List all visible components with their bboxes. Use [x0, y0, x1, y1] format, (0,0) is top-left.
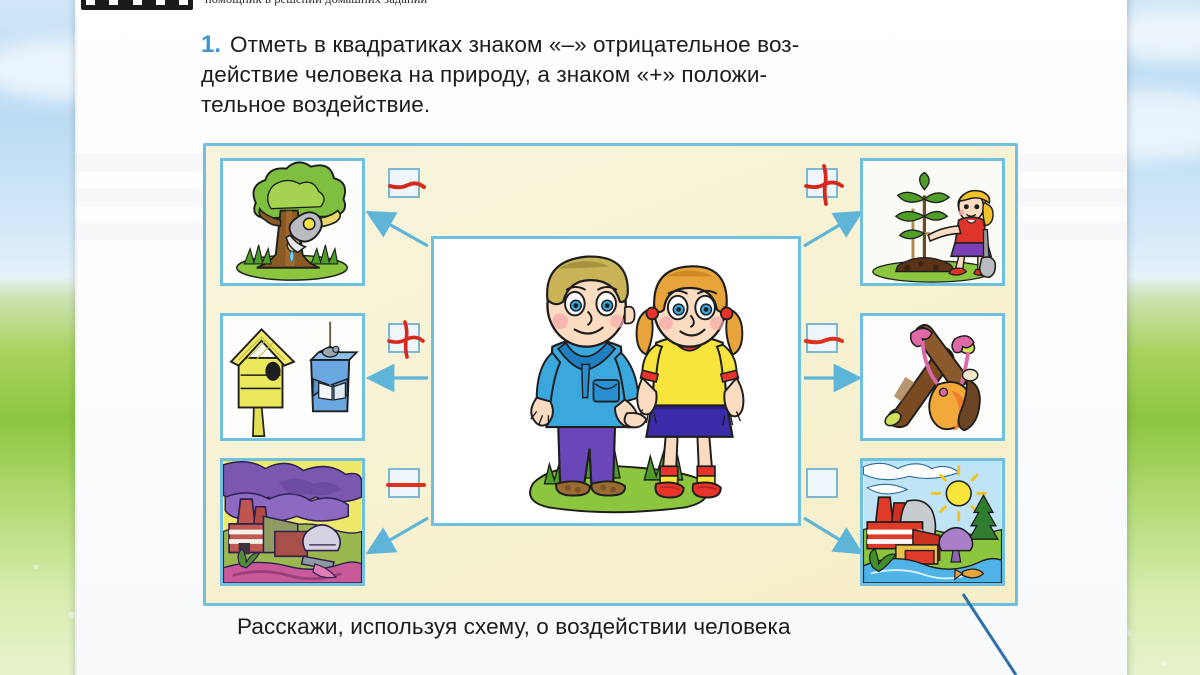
- minus-mark-icon: [384, 464, 428, 506]
- card-tree-cutting[interactable]: [220, 158, 365, 286]
- tree-axe-icon: [223, 161, 362, 283]
- page-header: помощник в решении домашних заданий: [75, 0, 1127, 14]
- checkbox-clean-factory[interactable]: [806, 468, 838, 498]
- task-block: 1. Отметь в квадратиках знаком «–» отриц…: [201, 30, 1021, 120]
- task-number: 1.: [201, 30, 221, 60]
- scheme-frame: [203, 143, 1018, 606]
- polluting-factory-icon: [223, 461, 362, 583]
- bottom-question-text: Расскажи, используя схему, о воздействии…: [237, 614, 791, 640]
- plus-mark-icon: [384, 319, 428, 361]
- minus-mark-icon: [802, 319, 846, 361]
- slingshot-icon: [863, 316, 1002, 438]
- checkbox-slingshot[interactable]: [806, 323, 838, 353]
- card-polluting-factory[interactable]: [220, 458, 365, 586]
- checkbox-birdhouse-feeder[interactable]: [388, 323, 420, 353]
- clean-factory-icon: [863, 461, 1002, 583]
- checkbox-planting-tree[interactable]: [806, 168, 838, 198]
- filmstrip-icon: [81, 0, 193, 10]
- header-caption: помощник в решении домашних заданий: [205, 0, 427, 10]
- minus-mark-icon: [384, 164, 428, 206]
- birdhouse-feeder-icon: [223, 316, 362, 438]
- card-planting-tree[interactable]: [860, 158, 1005, 286]
- card-center-children[interactable]: [431, 236, 801, 526]
- two-children-icon: [434, 239, 798, 523]
- checkbox-polluting-factory[interactable]: [388, 468, 420, 498]
- textbook-page: помощник в решении домашних заданий 1. О…: [75, 0, 1127, 675]
- slide-background: помощник в решении домашних заданий 1. О…: [0, 0, 1200, 675]
- card-clean-factory[interactable]: [860, 458, 1005, 586]
- plus-mark-icon: [802, 164, 846, 206]
- card-slingshot[interactable]: [860, 313, 1005, 441]
- task-text: Отметь в квадратиках знаком «–» отрицате…: [201, 30, 1021, 120]
- checkbox-tree-cutting[interactable]: [388, 168, 420, 198]
- card-birdhouse-feeder[interactable]: [220, 313, 365, 441]
- empty-mark-icon: [802, 464, 846, 506]
- girl-planting-tree-icon: [863, 161, 1002, 283]
